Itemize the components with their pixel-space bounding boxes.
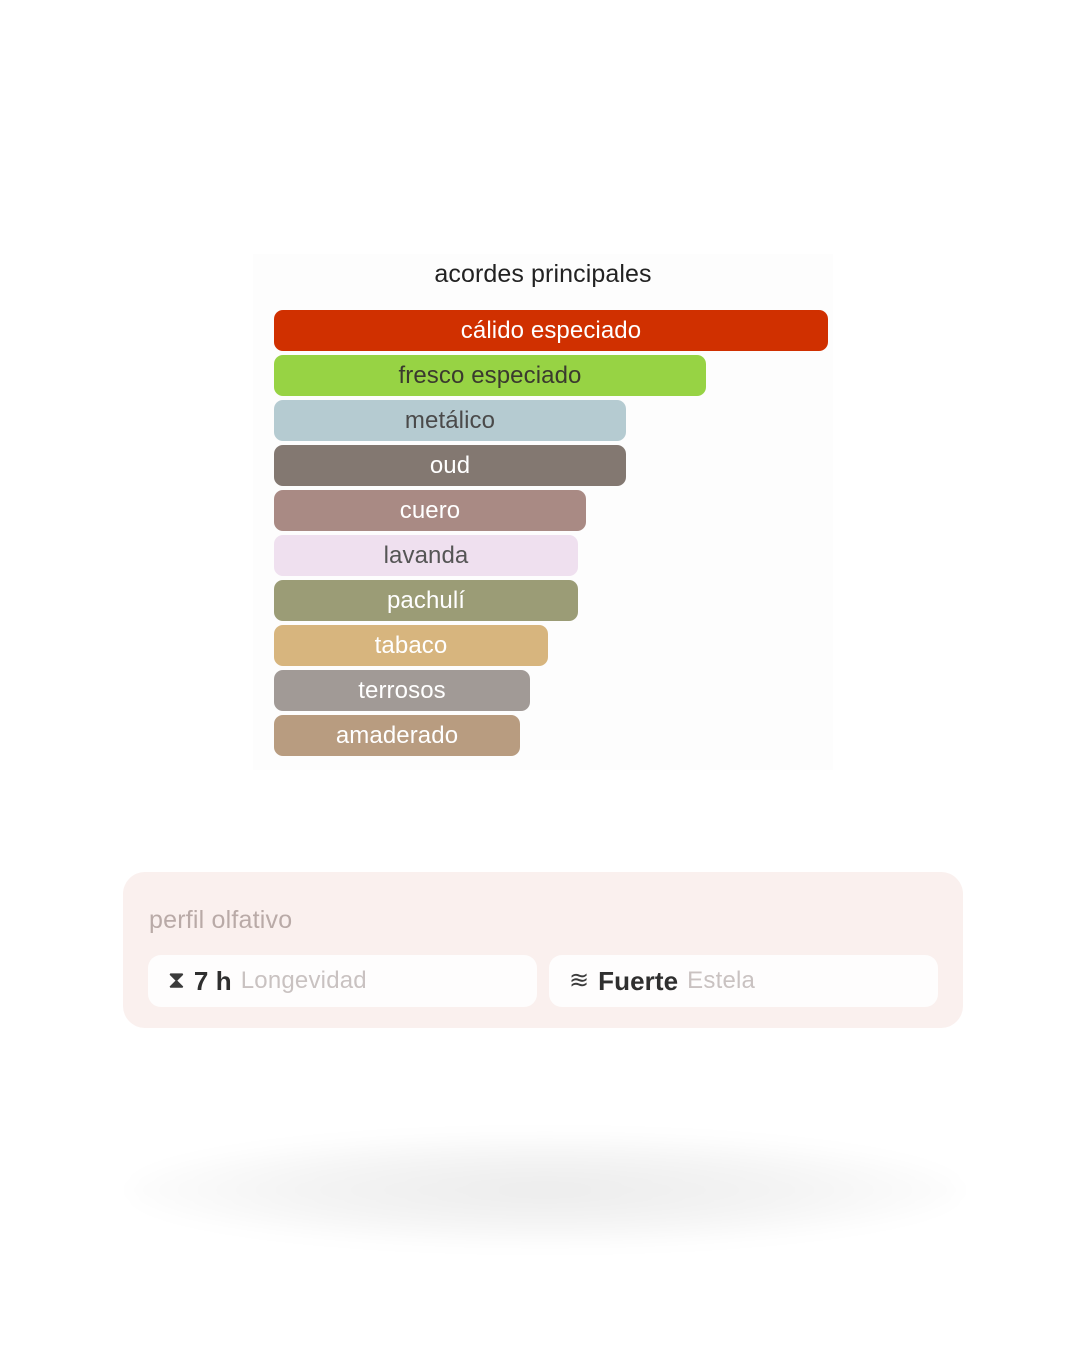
accord-bar[interactable]: tabaco: [274, 625, 548, 666]
bottom-shadow-decoration: [130, 1135, 960, 1245]
accords-bar-list: cálido especiadofresco especiadometálico…: [274, 310, 834, 760]
accord-row: fresco especiado: [274, 355, 834, 400]
accord-bar[interactable]: cuero: [274, 490, 586, 531]
accord-row: terrosos: [274, 670, 834, 715]
profile-chip-caption: Longevidad: [241, 967, 367, 995]
waves-icon: ≋: [569, 969, 589, 993]
accord-bar[interactable]: pachulí: [274, 580, 578, 621]
accord-bar[interactable]: fresco especiado: [274, 355, 706, 396]
accord-bar-label: cálido especiado: [461, 319, 641, 343]
accord-row: metálico: [274, 400, 834, 445]
accords-chart-title: acordes principales: [253, 254, 833, 294]
olfactory-profile-title: perfil olfativo: [149, 906, 292, 935]
accord-row: amaderado: [274, 715, 834, 760]
olfactory-profile-card: perfil olfativo ⧗7 hLongevidad≋FuerteEst…: [123, 872, 963, 1028]
olfactory-profile-chip-list: ⧗7 hLongevidad≋FuerteEstela: [148, 955, 938, 1007]
accord-row: pachulí: [274, 580, 834, 625]
accord-bar-label: amaderado: [336, 724, 458, 748]
accord-bar-label: lavanda: [384, 544, 469, 568]
accord-bar-label: terrosos: [358, 679, 446, 703]
accord-bar[interactable]: metálico: [274, 400, 626, 441]
accord-bar-label: metálico: [405, 409, 495, 433]
hourglass-icon: ⧗: [168, 969, 185, 993]
profile-chip-caption: Estela: [687, 967, 755, 995]
profile-chip-hourglass[interactable]: ⧗7 hLongevidad: [148, 955, 537, 1007]
accord-row: lavanda: [274, 535, 834, 580]
accord-bar-label: cuero: [400, 499, 461, 523]
accords-chart-panel: acordes principales cálido especiadofres…: [253, 254, 833, 770]
accord-row: cuero: [274, 490, 834, 535]
accord-bar[interactable]: terrosos: [274, 670, 530, 711]
profile-chip-value: 7 h: [194, 966, 232, 997]
accord-bar-label: pachulí: [387, 589, 465, 613]
accord-row: oud: [274, 445, 834, 490]
accord-bar[interactable]: lavanda: [274, 535, 578, 576]
accord-bar[interactable]: cálido especiado: [274, 310, 828, 351]
accord-bar-label: oud: [430, 454, 470, 478]
accord-bar[interactable]: oud: [274, 445, 626, 486]
profile-chip-waves[interactable]: ≋FuerteEstela: [549, 955, 938, 1007]
accord-bar-label: tabaco: [375, 634, 448, 658]
accord-row: tabaco: [274, 625, 834, 670]
accord-bar-label: fresco especiado: [398, 364, 581, 388]
profile-chip-value: Fuerte: [598, 966, 678, 997]
accord-bar[interactable]: amaderado: [274, 715, 520, 756]
accord-row: cálido especiado: [274, 310, 834, 355]
